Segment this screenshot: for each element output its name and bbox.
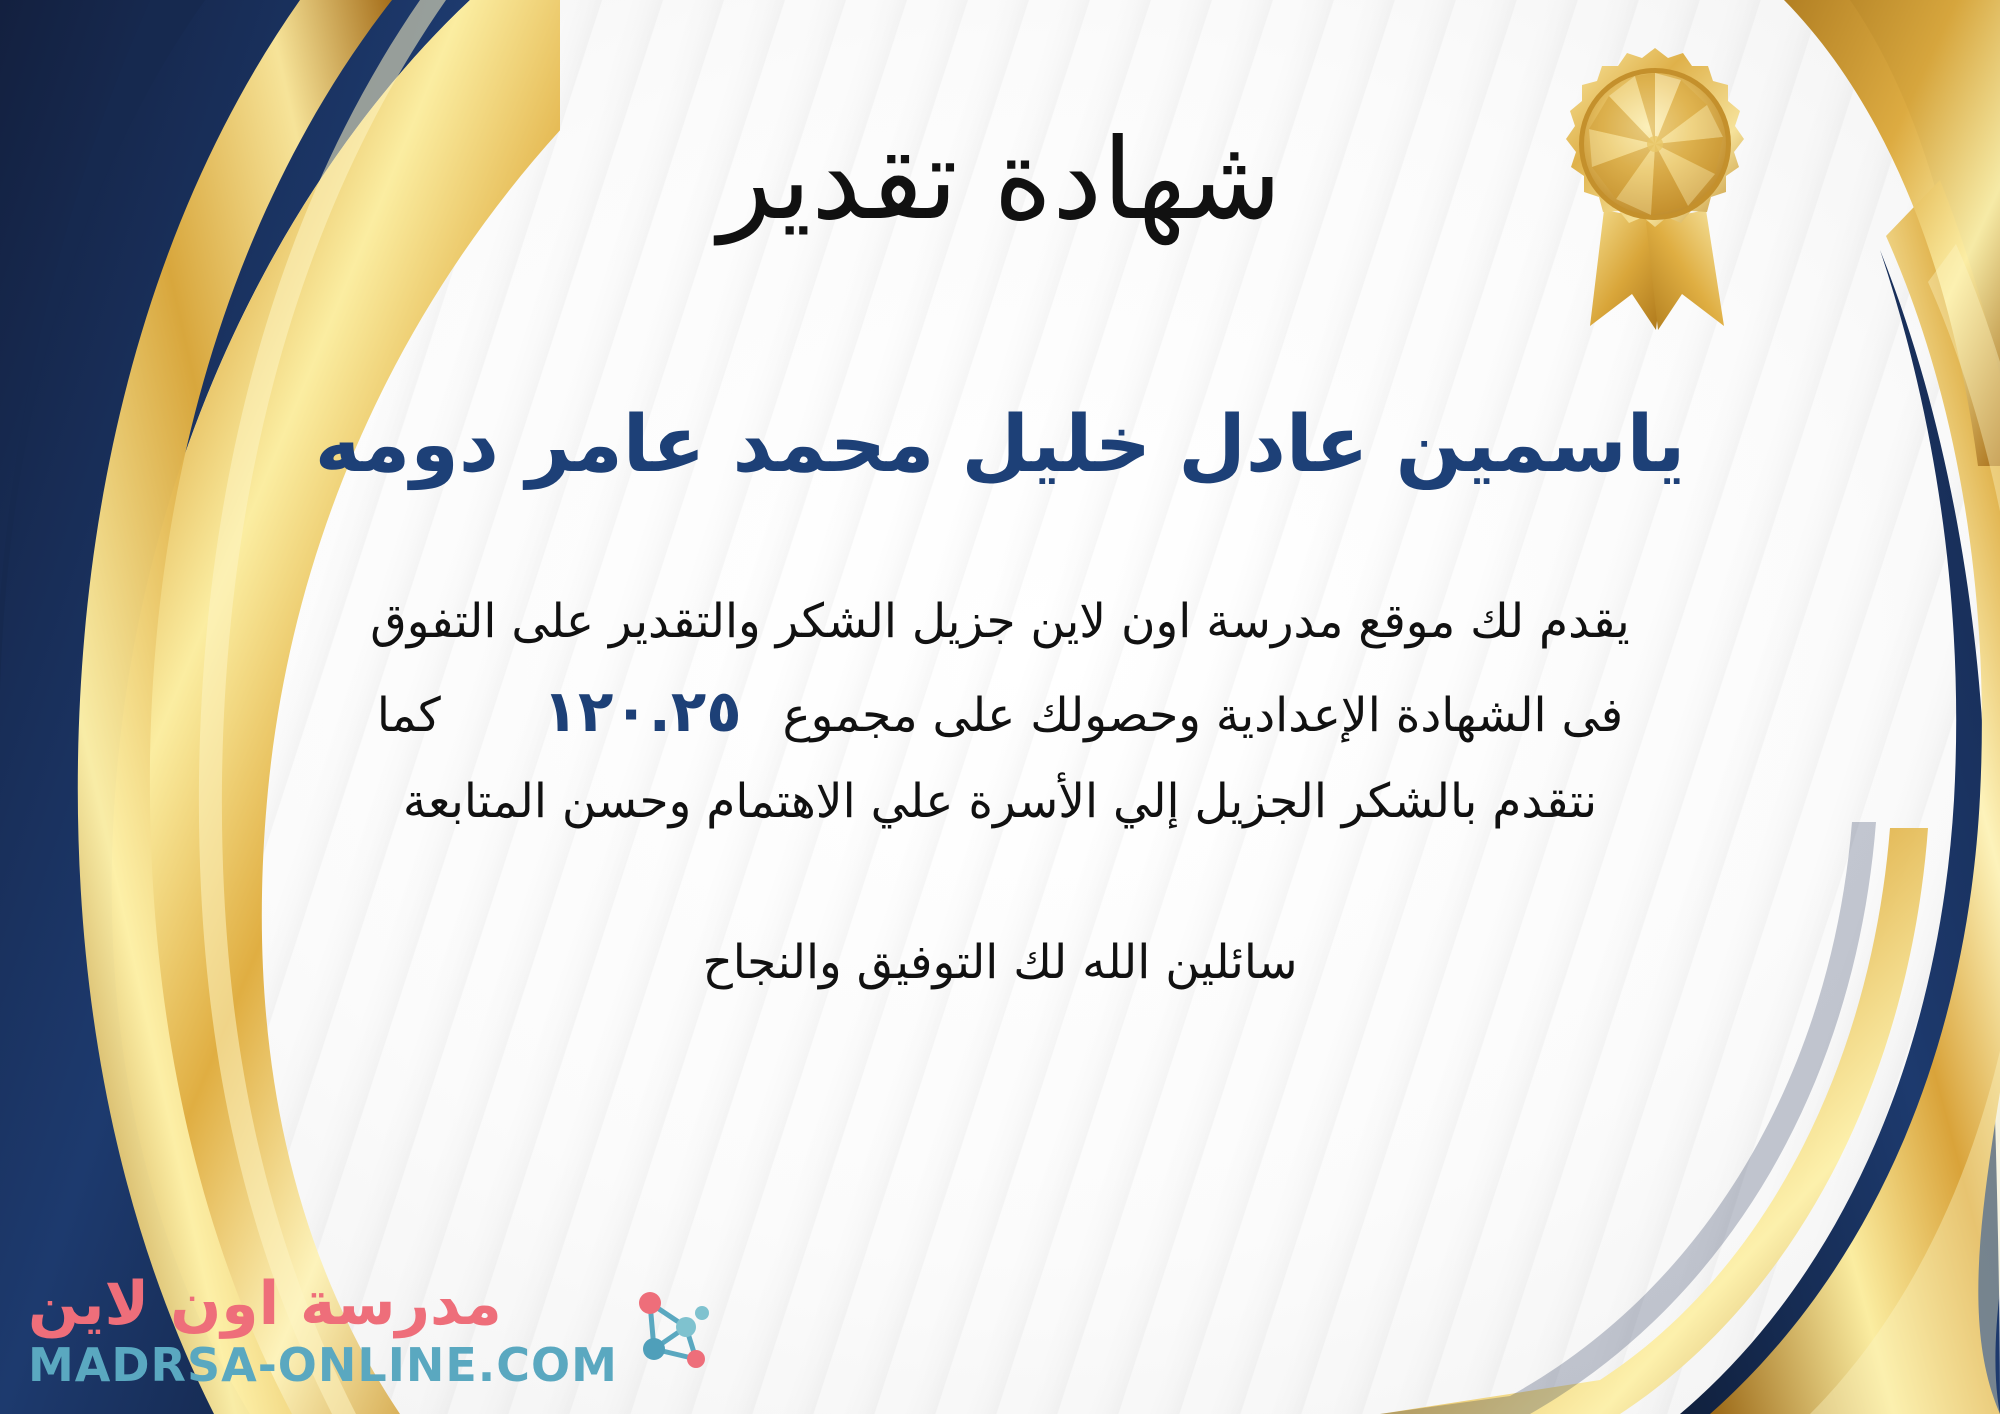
body-line-2-prefix: فى الشهادة الإعدادية وحصولك على مجموع xyxy=(783,688,1624,743)
certificate-page: شهادة تقدير ياسمين عادل خليل محمد عامر د… xyxy=(0,0,2000,1414)
page-title: شهادة تقدير xyxy=(718,122,1281,240)
body-line-3: نتقدم بالشكر الجزيل إلي الأسرة علي الاهت… xyxy=(335,762,1665,843)
brand-logo[interactable]: مدرسة اون لاين MADRSA-ONLINE.COM xyxy=(28,1274,714,1388)
brand-website: MADRSA-ONLINE.COM xyxy=(28,1342,618,1388)
gold-award-medal-icon xyxy=(1532,42,1778,332)
body-line-2-suffix: كما xyxy=(377,688,441,743)
body-line-1: يقدم لك موقع مدرسة اون لاين جزيل الشكر و… xyxy=(335,582,1665,663)
student-name: ياسمين عادل خليل محمد عامر دومه xyxy=(315,400,1686,490)
closing-wish: سائلين الله لك التوفيق والنجاح xyxy=(702,935,1297,990)
body-line-2: فى الشهادة الإعدادية وحصولك على مجموع ١٢… xyxy=(335,662,1665,762)
appreciation-body: يقدم لك موقع مدرسة اون لاين جزيل الشكر و… xyxy=(335,582,1665,843)
brand-name-arabic: مدرسة اون لاين xyxy=(28,1274,502,1334)
grade-total: ١٢٠.٢٥ xyxy=(517,677,768,745)
network-nodes-icon xyxy=(628,1283,714,1379)
brand-logo-text: مدرسة اون لاين MADRSA-ONLINE.COM xyxy=(28,1274,618,1388)
